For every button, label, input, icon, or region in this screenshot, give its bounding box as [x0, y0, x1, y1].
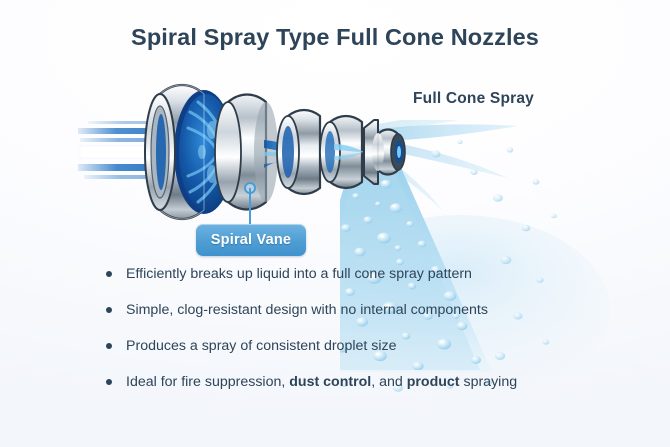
nozzle-illustration: [78, 72, 408, 232]
list-item: Simple, clog-resistant design with no in…: [100, 300, 600, 320]
page-title: Spiral Spray Type Full Cone Nozzles: [0, 24, 670, 51]
feature-list: Efficiently breaks up liquid into a full…: [100, 264, 600, 392]
bullet-dot-icon: [106, 343, 112, 349]
bullet-dot-icon: [106, 379, 112, 385]
list-item: Efficiently breaks up liquid into a full…: [100, 264, 600, 284]
nozzle-mid-ring: [277, 110, 320, 194]
bullet-applications-text: Ideal for fire suppression, dust control…: [126, 372, 600, 392]
list-item: Ideal for fire suppression, dust control…: [100, 372, 600, 392]
spiral-vane-leader-line: [249, 188, 251, 226]
bullet-design-text: Simple, clog-resistant design with no in…: [126, 300, 600, 320]
bullet-dot-icon: [106, 271, 112, 277]
spiral-vane-badge[interactable]: Spiral Vane: [196, 224, 306, 256]
nozzle-rear-ring: [320, 116, 364, 188]
list-item: Produces a spray of consistent droplet s…: [100, 336, 600, 356]
spray-pattern-label: Full Cone Spray: [413, 90, 534, 108]
bullet-dot-icon: [106, 307, 112, 313]
bullet-efficiency-text: Efficiently breaks up liquid into a full…: [126, 264, 600, 284]
infographic-canvas: Spiral Spray Type Full Cone Nozzles: [0, 0, 670, 447]
bullet-droplet-size-text: Produces a spray of consistent droplet s…: [126, 336, 600, 356]
nozzle-outlet-tip: [372, 130, 405, 175]
spiral-vane-badge-label: Spiral Vane: [211, 232, 291, 248]
